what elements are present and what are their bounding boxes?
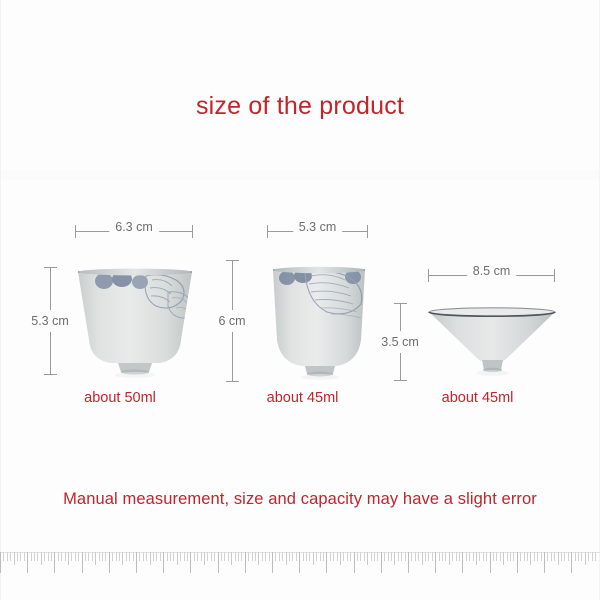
measuring-ruler-strip <box>0 552 600 582</box>
ruler-tick <box>575 552 576 561</box>
ruler-tick <box>112 552 113 561</box>
ruler-tick <box>51 552 52 561</box>
ruler-tick <box>265 552 266 561</box>
ruler-tick <box>544 552 545 573</box>
ruler-tick <box>340 552 341 565</box>
ruler-tick <box>116 552 117 561</box>
ruler-tick <box>44 552 45 561</box>
disclaimer-text: Manual measurement, size and capacity ma… <box>0 490 600 509</box>
ruler-tick <box>68 552 69 565</box>
ruler-tick <box>75 552 76 561</box>
product-item-2: 5.3 cm 6 cm <box>215 215 390 415</box>
ruler-tick <box>554 552 555 561</box>
ruler-tick <box>231 552 232 565</box>
ruler-tick <box>204 552 205 565</box>
ruler-tick <box>48 552 49 561</box>
ruler-tick <box>303 552 304 561</box>
ruler-tick <box>507 552 508 561</box>
ruler-tick <box>255 552 256 561</box>
height-label-1: 5.3 cm <box>31 310 69 332</box>
ruler-tick <box>82 552 83 573</box>
ruler-tick <box>279 552 280 561</box>
ruler-tick <box>316 552 317 561</box>
ruler-tick <box>520 552 521 561</box>
ruler-tick <box>405 552 406 561</box>
ruler-tick <box>381 552 382 573</box>
ruler-tick <box>173 552 174 561</box>
ruler-tick <box>85 552 86 561</box>
ruler-tick <box>289 552 290 561</box>
dimension-cap-top <box>44 267 57 268</box>
ruler-tick <box>207 552 208 561</box>
ruler-tick <box>156 552 157 561</box>
ruler-tick <box>500 552 501 561</box>
ruler-tick <box>578 552 579 561</box>
ruler-tick <box>160 552 161 561</box>
width-dimension-2: 5.3 cm <box>267 224 368 238</box>
ruler-tick <box>320 552 321 561</box>
ruler-tick <box>7 552 8 561</box>
ruler-tick <box>411 552 412 561</box>
ruler-tick <box>462 552 463 573</box>
ruler-tick <box>496 552 497 561</box>
ruler-tick <box>469 552 470 561</box>
ruler-tick <box>517 552 518 573</box>
ruler-tick <box>299 552 300 573</box>
ruler-tick <box>581 552 582 561</box>
ruler-tick <box>432 552 433 561</box>
ruler-tick <box>442 552 443 561</box>
ruler-tick <box>201 552 202 561</box>
ruler-tick <box>466 552 467 561</box>
ruler-tick <box>479 552 480 561</box>
dimension-cap-bottom <box>394 380 407 381</box>
width-label-3: 8.5 cm <box>467 264 517 278</box>
ruler-tick <box>190 552 191 573</box>
ruler-tick <box>326 552 327 573</box>
ruler-tick <box>343 552 344 561</box>
ruler-tick <box>139 552 140 561</box>
ruler-tick <box>313 552 314 565</box>
ruler-tick <box>262 552 263 561</box>
ruler-tick <box>37 552 38 561</box>
ruler-tick <box>167 552 168 561</box>
page-title: size of the product <box>0 92 600 121</box>
ruler-tick <box>122 552 123 565</box>
ruler-tick <box>595 552 596 561</box>
ruler-tick <box>143 552 144 561</box>
height-label-3: 3.5 cm <box>381 331 419 353</box>
ruler-tick <box>105 552 106 561</box>
ruler-tick <box>27 552 28 573</box>
ruler-tick <box>415 552 416 561</box>
ruler-tick <box>425 552 426 561</box>
ruler-tick <box>558 552 559 565</box>
ruler-tick <box>31 552 32 561</box>
ruler-tick <box>214 552 215 561</box>
ruler-tick <box>228 552 229 561</box>
dimension-cap-right <box>554 269 555 282</box>
capacity-label-2: about 45ml <box>215 390 390 406</box>
dimension-cap-bottom <box>44 374 57 375</box>
ruler-tick <box>248 552 249 561</box>
ruler-tick <box>384 552 385 561</box>
ruler-tick <box>374 552 375 561</box>
ruler-tick <box>394 552 395 565</box>
dimension-cap-top <box>226 260 239 261</box>
ruler-tick <box>401 552 402 561</box>
ruler-tick <box>360 552 361 561</box>
ruler-tick <box>459 552 460 561</box>
ruler-tick <box>211 552 212 561</box>
ruler-tick <box>391 552 392 561</box>
ruler-tick <box>476 552 477 565</box>
ruler-tick <box>136 552 137 573</box>
ruler-tick <box>333 552 334 561</box>
ruler-tick <box>364 552 365 561</box>
dimension-cap-bottom <box>226 381 239 382</box>
ruler-tick <box>153 552 154 561</box>
ruler-tick <box>34 552 35 561</box>
ruler-tick <box>133 552 134 561</box>
ruler-tick <box>119 552 120 561</box>
ruler-tick <box>524 552 525 561</box>
ruler-tick <box>513 552 514 561</box>
ruler-tick <box>88 552 89 561</box>
ruler-tick <box>24 552 25 561</box>
ruler-tick <box>102 552 103 561</box>
ruler-tick <box>551 552 552 561</box>
ruler-tick <box>592 552 593 561</box>
ruler-tick <box>126 552 127 561</box>
ruler-tick <box>564 552 565 561</box>
ruler-tick <box>534 552 535 561</box>
dimension-cap-left <box>75 225 76 238</box>
ruler-tick <box>282 552 283 561</box>
ruler-tick <box>14 552 15 565</box>
ruler-tick <box>235 552 236 561</box>
ruler-tick <box>547 552 548 561</box>
ruler-tick <box>503 552 504 565</box>
ruler-tick <box>194 552 195 561</box>
ruler-tick <box>71 552 72 561</box>
ruler-tick <box>238 552 239 561</box>
ruler-tick <box>61 552 62 561</box>
ruler-tick <box>428 552 429 561</box>
ruler-tick <box>439 552 440 561</box>
ruler-tick <box>350 552 351 561</box>
ruler-tick <box>20 552 21 561</box>
ruler-tick <box>245 552 246 573</box>
ruler-tick <box>3 552 4 561</box>
ruler-tick <box>180 552 181 561</box>
height-dimension-3: 3.5 cm <box>393 303 407 381</box>
ruler-tick <box>129 552 130 561</box>
height-dimension-1: 5.3 cm <box>43 267 57 375</box>
ruler-tick <box>54 552 55 573</box>
ruler-tick <box>493 552 494 561</box>
ruler-tick <box>490 552 491 573</box>
ruler-tick <box>272 552 273 573</box>
ruler-tick <box>330 552 331 561</box>
ruler-tick <box>541 552 542 561</box>
ruler-tick <box>309 552 310 561</box>
bowl-illustration <box>425 300 559 390</box>
ruler-tick <box>418 552 419 561</box>
ruler-tick <box>65 552 66 561</box>
ruler-tick <box>571 552 572 573</box>
ruler-tick <box>296 552 297 561</box>
dimension-cap-left <box>267 225 268 238</box>
ruler-tick <box>170 552 171 561</box>
ruler-tick <box>530 552 531 565</box>
background-band-top <box>0 0 600 170</box>
ruler-tick <box>184 552 185 561</box>
ruler-tick <box>452 552 453 561</box>
ruler-tick <box>92 552 93 561</box>
ruler-tick <box>354 552 355 573</box>
ruler-tick <box>252 552 253 561</box>
ruler-tick <box>323 552 324 561</box>
width-dimension-1: 6.3 cm <box>75 224 193 238</box>
dimension-cap-right <box>192 225 193 238</box>
ruler-tick <box>357 552 358 561</box>
ruler-tick <box>95 552 96 565</box>
teacup-2-illustration <box>265 260 375 385</box>
ruler-tick <box>537 552 538 561</box>
width-dimension-3: 8.5 cm <box>428 268 555 282</box>
ruler-tick <box>568 552 569 561</box>
teacup-1-illustration <box>72 262 198 382</box>
ruler-tick <box>510 552 511 561</box>
ruler-tick <box>292 552 293 561</box>
ruler-tick <box>241 552 242 561</box>
ruler-tick <box>224 552 225 561</box>
ruler-tick <box>561 552 562 561</box>
dimension-cap-left <box>428 269 429 282</box>
width-label-2: 5.3 cm <box>293 220 343 234</box>
ruler-tick <box>306 552 307 561</box>
ruler-tick <box>527 552 528 561</box>
ruler-tick <box>109 552 110 573</box>
ruler-tick <box>286 552 287 565</box>
ruler-tick <box>146 552 147 561</box>
product-item-1: 6.3 cm 5.3 cm <box>30 215 210 415</box>
ruler-tick <box>187 552 188 561</box>
ruler-tick <box>408 552 409 573</box>
product-size-infographic: size of the product 6.3 cm 5.3 cm <box>0 0 600 600</box>
product-item-3: 8.5 cm 3.5 cm <box>385 250 570 415</box>
ruler-tick <box>221 552 222 561</box>
ruler-tick <box>435 552 436 573</box>
ruler-tick <box>585 552 586 565</box>
ruler-tick <box>10 552 11 561</box>
ruler-tick <box>177 552 178 565</box>
capacity-label-1: about 50ml <box>30 390 210 406</box>
ruler-tick <box>588 552 589 561</box>
height-label-2: 6 cm <box>218 310 245 332</box>
ruler-tick <box>17 552 18 561</box>
ruler-tick <box>486 552 487 561</box>
ruler-tick <box>422 552 423 565</box>
ruler-tick <box>367 552 368 565</box>
ruler-tick <box>58 552 59 561</box>
ruler-tick <box>445 552 446 561</box>
ruler-tick <box>371 552 372 561</box>
ruler-tick <box>163 552 164 573</box>
ruler-tick <box>78 552 79 561</box>
dimension-cap-right <box>367 225 368 238</box>
ruler-tick <box>99 552 100 561</box>
dimension-cap-top <box>394 303 407 304</box>
ruler-tick <box>269 552 270 561</box>
ruler-tick <box>0 552 1 573</box>
capacity-label-3: about 45ml <box>385 390 570 406</box>
ruler-tick <box>41 552 42 565</box>
ruler-tick <box>258 552 259 565</box>
ruler-tick <box>388 552 389 561</box>
ruler-tick <box>218 552 219 573</box>
ruler-tick <box>150 552 151 565</box>
background-band-divider <box>0 170 600 180</box>
ruler-tick <box>456 552 457 561</box>
ruler-tick <box>347 552 348 561</box>
ruler-tick <box>398 552 399 561</box>
ruler-tick <box>197 552 198 561</box>
ruler-tick <box>473 552 474 561</box>
ruler-tick <box>483 552 484 561</box>
width-label-1: 6.3 cm <box>109 220 159 234</box>
height-dimension-2: 6 cm <box>225 260 239 382</box>
ruler-tick <box>275 552 276 561</box>
ruler-tick <box>449 552 450 565</box>
ruler-tick <box>337 552 338 561</box>
ruler-tick <box>377 552 378 561</box>
left-border-line <box>0 0 1 600</box>
